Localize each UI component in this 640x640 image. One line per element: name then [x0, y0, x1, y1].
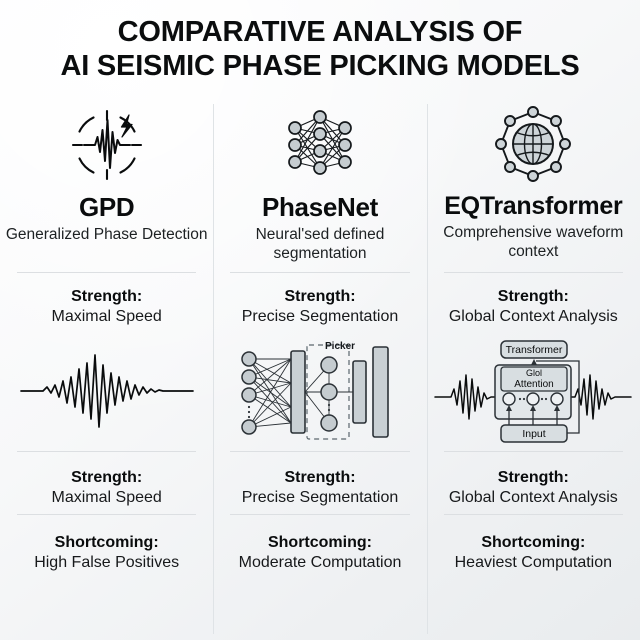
column-header-gpd: GPD Generalized Phase Detection: [0, 100, 213, 272]
shortcoming-row-phasenet: Shortcoming: Moderate Computation: [213, 515, 426, 575]
strength-label: Strength:: [0, 468, 213, 488]
model-name-gpd: GPD: [79, 192, 134, 223]
model-tagline-eqtransformer: Comprehensive waveform context: [431, 224, 636, 262]
column-eqtransformer: EQTransformer Comprehensive waveform con…: [427, 100, 640, 640]
strength-label: Strength:: [427, 287, 640, 307]
shortcoming-label: Shortcoming:: [0, 533, 213, 553]
transformer-box-label: Transformer: [506, 344, 563, 356]
strength-value: Global Context Analysis: [427, 488, 640, 509]
poster-title: COMPARATIVE ANALYSIS OF AI SEISMIC PHASE…: [0, 16, 640, 83]
strength-row-gpd: Strength: Maximal Speed: [0, 273, 213, 331]
title-line-2: AI SEISMIC PHASE PICKING MODELS: [0, 50, 640, 84]
strength-value: Precise Segmentation: [213, 488, 426, 509]
comparison-columns: GPD Generalized Phase Detection Strength…: [0, 100, 640, 640]
strength-row-2-eqtransformer: Strength: Global Context Analysis: [427, 452, 640, 514]
shortcoming-label: Shortcoming:: [213, 533, 426, 553]
transformer-attention-diagram: Transformer Glol Attention Input: [427, 331, 640, 451]
column-header-phasenet: PhaseNet Neural'sed defined segmentation: [213, 100, 426, 272]
phase-picker-network-diagram: Picker: [213, 331, 426, 451]
shortcoming-value: Moderate Computation: [213, 553, 426, 574]
column-gpd: GPD Generalized Phase Detection Strength…: [0, 100, 213, 640]
model-name-eqtransformer: EQTransformer: [444, 192, 622, 221]
strength-label: Strength:: [427, 468, 640, 488]
strength-value: Maximal Speed: [0, 307, 213, 328]
strength-value: Precise Segmentation: [213, 307, 426, 328]
strength-row-2-gpd: Strength: Maximal Speed: [0, 452, 213, 514]
seismogram-waveform-diagram: [0, 331, 213, 451]
title-line-1: COMPARATIVE ANALYSIS OF: [0, 16, 640, 50]
neural-network-icon: [281, 104, 359, 186]
attention-box-label-line2: Attention: [515, 379, 554, 390]
strength-row-2-phasenet: Strength: Precise Segmentation: [213, 452, 426, 514]
shortcoming-row-eqtransformer: Shortcoming: Heaviest Computation: [427, 515, 640, 575]
strength-label: Strength:: [0, 287, 213, 307]
picker-label: Picker: [325, 341, 355, 352]
strength-value: Global Context Analysis: [427, 307, 640, 328]
model-tagline-phasenet: Neural'sed defined segmentation: [218, 226, 423, 264]
column-header-eqtransformer: EQTransformer Comprehensive waveform con…: [427, 100, 640, 272]
shortcoming-row-gpd: Shortcoming: High False Positives: [0, 515, 213, 575]
model-tagline-gpd: Generalized Phase Detection: [6, 226, 208, 245]
input-box-label: Input: [523, 428, 546, 440]
strength-row-eqtransformer: Strength: Global Context Analysis: [427, 273, 640, 331]
strength-label: Strength:: [213, 468, 426, 488]
infographic-poster: COMPARATIVE ANALYSIS OF AI SEISMIC PHASE…: [0, 0, 640, 640]
strength-row-phasenet: Strength: Precise Segmentation: [213, 273, 426, 331]
strength-value: Maximal Speed: [0, 488, 213, 509]
globe-network-icon: [493, 104, 573, 186]
attention-box-label-line1: Glol: [526, 368, 542, 378]
seismic-crosshair-icon: [68, 104, 146, 186]
shortcoming-label: Shortcoming:: [427, 533, 640, 553]
shortcoming-value: Heaviest Computation: [427, 553, 640, 574]
shortcoming-value: High False Positives: [0, 553, 213, 574]
column-phasenet: PhaseNet Neural'sed defined segmentation…: [213, 100, 426, 640]
strength-label: Strength:: [213, 287, 426, 307]
model-name-phasenet: PhaseNet: [262, 192, 378, 223]
